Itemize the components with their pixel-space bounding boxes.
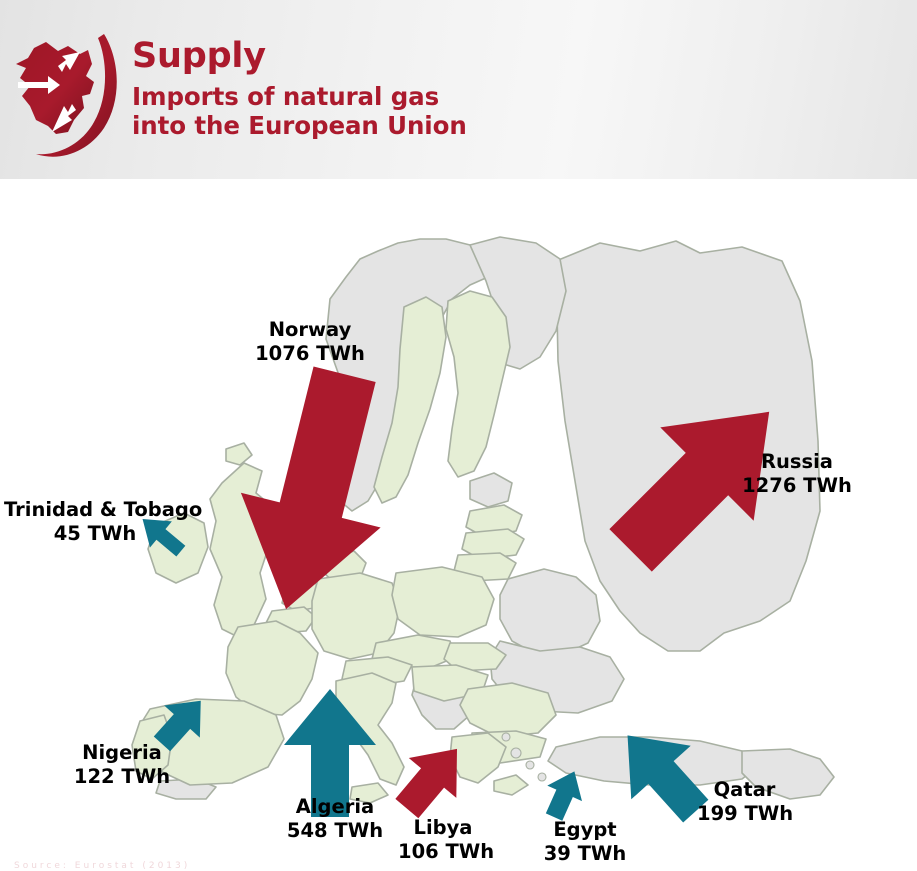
label-norway-name: Norway (250, 318, 370, 342)
label-nigeria: Nigeria 122 TWh (67, 741, 177, 789)
label-russia-name: Russia (742, 450, 852, 474)
country-crete (494, 775, 528, 795)
label-nigeria-value: 122 TWh (67, 765, 177, 789)
label-egypt-name: Egypt (540, 818, 630, 842)
label-qatar: Qatar 199 TWh (697, 778, 792, 826)
infographic-page: Supply Imports of natural gas into the E… (0, 0, 917, 871)
country-greece (450, 733, 506, 783)
country-poland (392, 567, 494, 637)
subtitle-line-1: Imports of natural gas (132, 82, 467, 111)
label-libya-name: Libya (398, 816, 488, 840)
france-map-arrows-logo (8, 24, 126, 164)
label-algeria-name: Algeria (280, 795, 390, 819)
country-united-kingdom (210, 463, 268, 637)
country-baltic-grey (470, 473, 512, 507)
label-trinidad-tobago-name: Trinidad & Tobago (4, 498, 186, 522)
subtitle-line-2: into the European Union (132, 111, 467, 140)
country-belarus (500, 569, 600, 655)
title-block: Supply Imports of natural gas into the E… (132, 36, 467, 140)
label-nigeria-name: Nigeria (67, 741, 177, 765)
page-title: Supply (132, 36, 467, 76)
page-subtitle: Imports of natural gas into the European… (132, 82, 467, 140)
label-algeria-value: 548 TWh (280, 819, 390, 843)
label-norway: Norway 1076 TWh (250, 318, 370, 366)
source-note: Source: Eurostat (2013) (14, 861, 514, 871)
label-libya: Libya 106 TWh (398, 816, 488, 864)
label-russia: Russia 1276 TWh (742, 450, 852, 498)
label-egypt: Egypt 39 TWh (540, 818, 630, 866)
label-egypt-value: 39 TWh (540, 842, 630, 866)
logo-svg (8, 24, 126, 164)
country-scotland-isles (226, 443, 252, 465)
label-qatar-value: 199 TWh (697, 802, 792, 826)
label-norway-value: 1076 TWh (250, 342, 370, 366)
label-trinidad-tobago: Trinidad & Tobago 45 TWh (4, 498, 186, 546)
country-finland (446, 291, 510, 477)
label-algeria: Algeria 548 TWh (280, 795, 390, 843)
country-romania (460, 683, 556, 737)
label-russia-value: 1276 TWh (742, 474, 852, 498)
label-trinidad-tobago-value: 45 TWh (4, 522, 186, 546)
header-banner: Supply Imports of natural gas into the E… (0, 0, 917, 180)
map-countries (132, 237, 834, 803)
label-qatar-name: Qatar (697, 778, 792, 802)
